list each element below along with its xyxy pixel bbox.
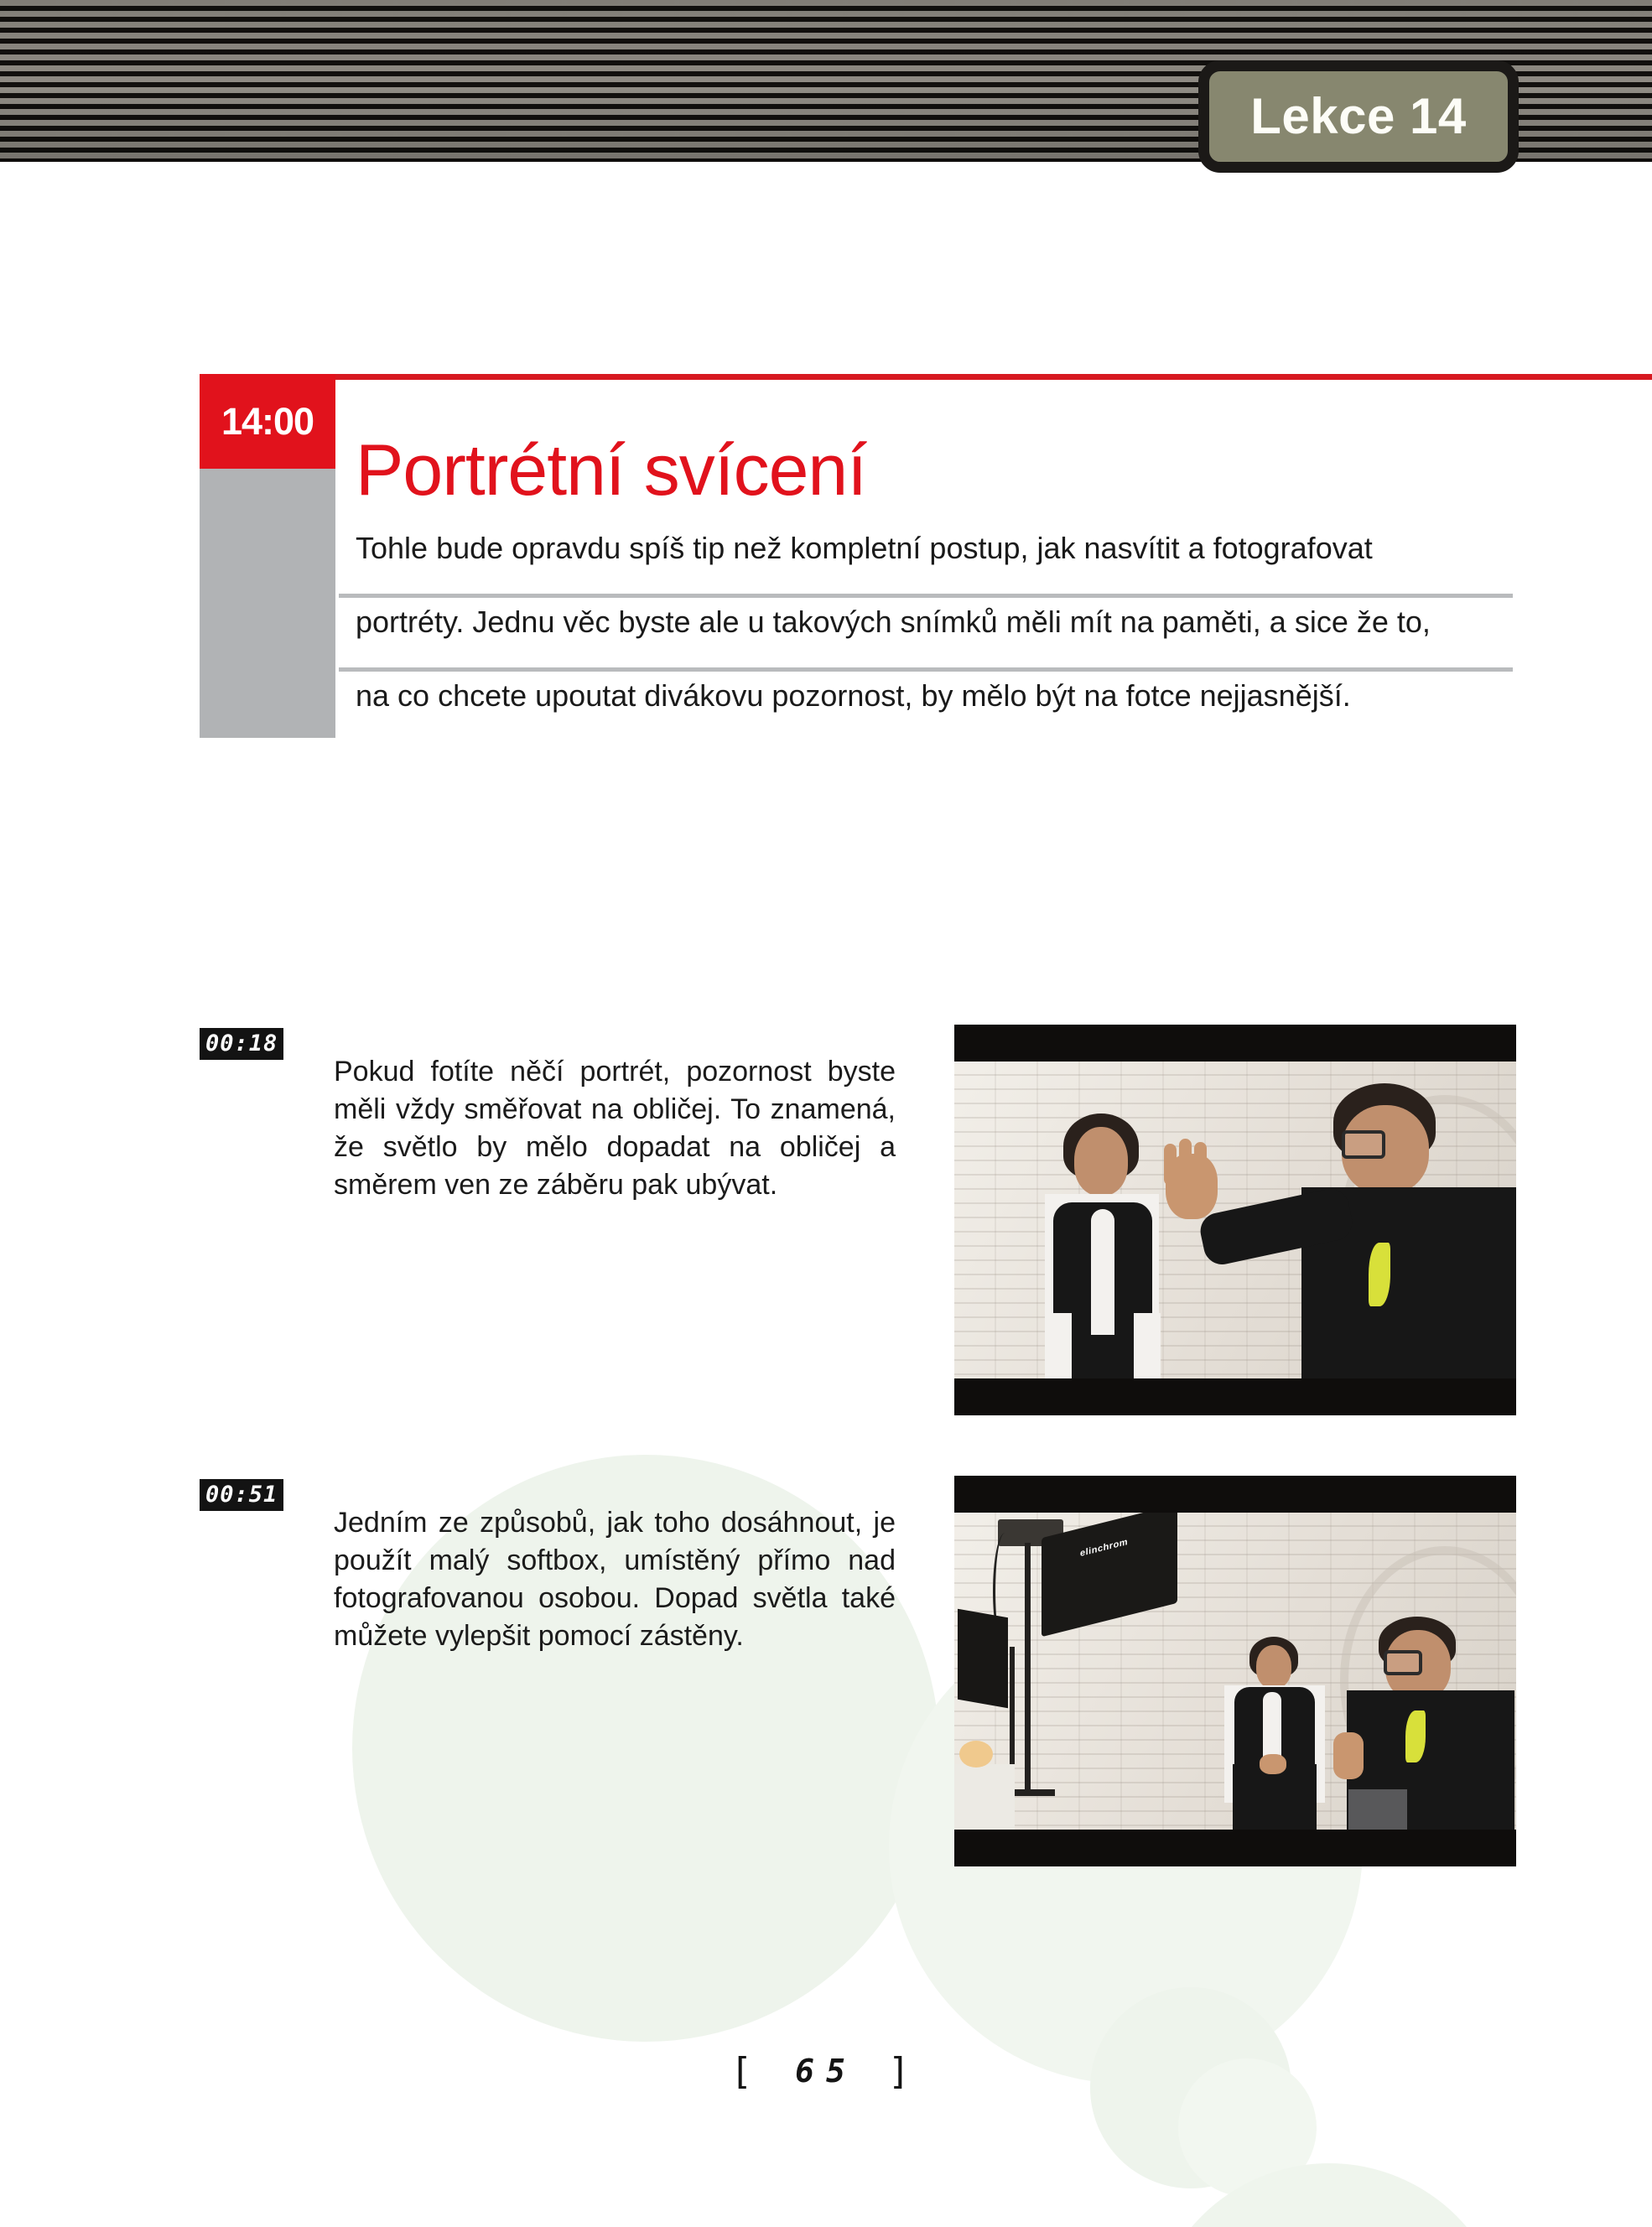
intro-paragraph: Tohle bude opravdu spíš tip než kompletn… — [356, 524, 1513, 745]
time-badge: 14:00 — [200, 374, 335, 469]
instructor-finger — [1194, 1142, 1207, 1186]
video-still-1-frame — [954, 1062, 1516, 1378]
intro-line-text: na co chcete upoutat divákovu pozornost,… — [356, 672, 1513, 717]
lesson-badge-label: Lekce 14 — [1250, 91, 1467, 142]
timecode-badge-label: 00:51 — [205, 1483, 278, 1506]
time-badge-label: 14:00 — [221, 402, 314, 440]
instructor-trousers — [1348, 1789, 1407, 1830]
light-stand-pole — [1025, 1543, 1031, 1796]
folio-bracket-right: ] — [888, 2050, 922, 2093]
side-table — [954, 1764, 1015, 1830]
timecode-badge-label: 00:18 — [205, 1032, 278, 1055]
intro-line: Tohle bude opravdu spíš tip než kompletn… — [356, 524, 1513, 598]
watermark-circle-corner — [1149, 2163, 1509, 2227]
video-still-1 — [954, 1025, 1516, 1415]
flag-panel — [958, 1609, 1008, 1709]
flower-vase — [959, 1741, 993, 1768]
folio-bracket-left: [ — [730, 2050, 765, 2093]
instructor-thumb-up-hand — [1333, 1732, 1364, 1779]
title-red-rule — [335, 374, 1652, 380]
intro-line: portréty. Jednu věc byste ale u takových… — [356, 598, 1513, 672]
model-head — [1256, 1645, 1291, 1689]
video-still-2-frame: elinchrom — [954, 1513, 1516, 1830]
lesson-badge: Lekce 14 — [1198, 60, 1519, 173]
intro-line-text: portréty. Jednu věc byste ale u takových… — [356, 598, 1513, 643]
instructor-shirt-logo — [1369, 1243, 1390, 1306]
model-sleeve-left — [1045, 1313, 1072, 1378]
model-shirt-placket — [1091, 1209, 1114, 1335]
step-description: Pokud fotíte něčí portrét, pozornost bys… — [334, 1053, 896, 1204]
page-footer: [ 65 ] — [0, 2050, 1652, 2093]
document-page: Lekce 14 14:00 Portrétní svícení Tohle b… — [0, 0, 1652, 2227]
model-head — [1074, 1127, 1128, 1196]
page-title: Portrétní svícení — [356, 434, 866, 506]
intro-line: na co chcete upoutat divákovu pozornost,… — [356, 672, 1513, 745]
model-sleeve-right — [1134, 1313, 1161, 1378]
instructor-finger — [1164, 1144, 1177, 1186]
model-hands — [1260, 1754, 1286, 1774]
timecode-badge: 00:51 — [200, 1479, 283, 1511]
step-description: Jedním ze způsobů, jak toho dosáhnout, j… — [334, 1504, 896, 1655]
instructor-glasses — [1342, 1130, 1385, 1159]
instructor-glasses — [1384, 1650, 1422, 1675]
intro-line-text: Tohle bude opravdu spíš tip než kompletn… — [356, 524, 1513, 569]
instructor-finger — [1179, 1139, 1192, 1186]
instructor-shirt-logo — [1405, 1710, 1426, 1762]
page-number: 65 — [795, 2053, 857, 2089]
title-gray-column — [200, 469, 335, 738]
timecode-badge: 00:18 — [200, 1028, 283, 1060]
video-still-2: elinchrom — [954, 1476, 1516, 1866]
